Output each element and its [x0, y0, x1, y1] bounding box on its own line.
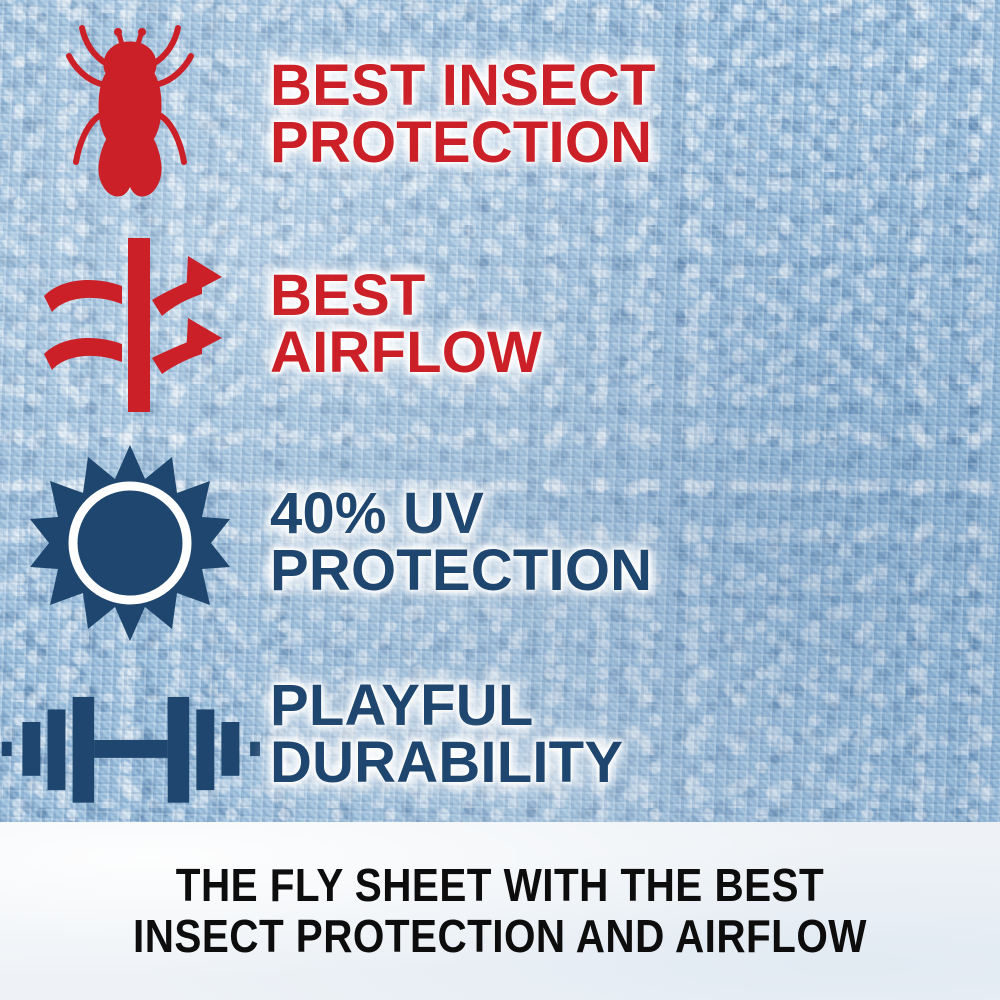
feature-label-airflow: BEST AIRFLOW — [270, 268, 542, 382]
poster-root: BEST INSECT PROTECTION — [0, 0, 1000, 1000]
feature-label-uv-protection: 40% UV PROTECTION — [270, 486, 652, 600]
dumbbell-icon — [0, 683, 260, 813]
feature-row-uv-protection: 40% UV PROTECTION — [0, 435, 1000, 650]
feature-row-airflow: BEST AIRFLOW — [0, 222, 1000, 427]
airflow-icon — [30, 230, 230, 420]
feature-list: BEST INSECT PROTECTION — [0, 0, 1000, 822]
feature-label-insect-protection: BEST INSECT PROTECTION — [270, 58, 656, 172]
caption-band: THE FLY SHEET WITH THE BEST INSECT PROTE… — [0, 822, 1000, 1000]
text-cell-uv: 40% UV PROTECTION — [260, 486, 652, 600]
text-cell-insect: BEST INSECT PROTECTION — [260, 58, 656, 172]
fly-icon — [55, 20, 205, 210]
icon-cell-durability — [0, 657, 260, 813]
icon-cell-insect — [0, 20, 260, 210]
feature-label-durability: PLAYFUL DURABILITY — [270, 678, 623, 792]
feature-row-durability: PLAYFUL DURABILITY — [0, 650, 1000, 820]
caption-text: THE FLY SHEET WITH THE BEST INSECT PROTE… — [117, 860, 883, 961]
sun-uv-icon — [30, 443, 230, 643]
icon-cell-uv — [0, 443, 260, 643]
text-cell-airflow: BEST AIRFLOW — [260, 268, 542, 382]
text-cell-durability: PLAYFUL DURABILITY — [260, 678, 623, 792]
icon-cell-airflow — [0, 230, 260, 420]
feature-row-insect-protection: BEST INSECT PROTECTION — [0, 10, 1000, 220]
